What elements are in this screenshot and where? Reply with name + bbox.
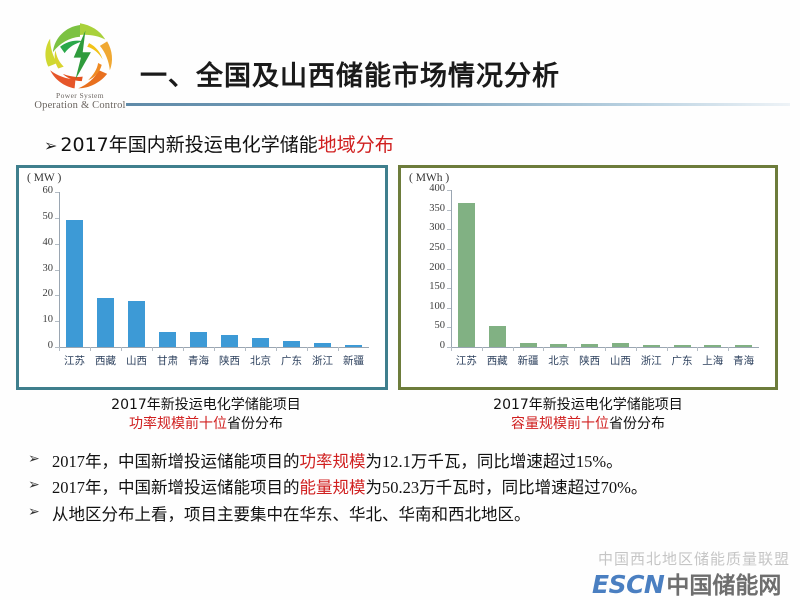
- power-swirl-icon: [34, 16, 126, 92]
- logo-line-1: Power System: [26, 92, 134, 100]
- bar: [97, 298, 114, 347]
- x-tick-label: 上海: [697, 353, 728, 368]
- bullet-text-part1: 从地区分布上看，项目主要集中在华东、华北、华南和西北地区。: [52, 505, 531, 524]
- page-title: 一、全国及山西储能市场情况分析: [140, 54, 560, 93]
- y-tick-mark: [447, 210, 451, 211]
- y-tick-label: 400: [411, 183, 445, 194]
- bullet-arrow-icon: ➢: [28, 476, 40, 496]
- bar-chart-power: 0102030405060江苏西藏山西甘肃青海陕西北京广东浙江新疆: [19, 168, 385, 387]
- brand-logo: Power System Operation & Control: [26, 16, 134, 120]
- subtitle-red-text: 地域分布: [318, 134, 394, 156]
- x-tick-label: 江苏: [59, 353, 90, 368]
- y-tick-mark: [447, 327, 451, 328]
- watermark-escn: ESCN中国储能网: [592, 566, 781, 600]
- title-underline-rule: [126, 103, 790, 106]
- chart-caption-power: 2017年新投运电化学储能项目 功率规模前十位省份分布: [26, 396, 386, 434]
- bar: [66, 220, 83, 347]
- y-tick-mark: [447, 269, 451, 270]
- slide-canvas: Power System Operation & Control 一、全国及山西…: [0, 0, 800, 600]
- x-tick-label: 北京: [245, 353, 276, 368]
- y-tick-label: 350: [411, 203, 445, 214]
- chart-panel-capacity: ( MWh ) 050100150200250300350400江苏西藏新疆北京…: [398, 165, 778, 390]
- x-tick-mark: [121, 347, 122, 351]
- bar: [735, 345, 752, 347]
- x-tick-mark: [152, 347, 153, 351]
- x-tick-label: 浙江: [307, 353, 338, 368]
- y-tick-mark: [447, 249, 451, 250]
- x-tick-label: 江苏: [451, 353, 482, 368]
- x-tick-mark: [636, 347, 637, 351]
- bar: [643, 345, 660, 347]
- x-tick-mark: [697, 347, 698, 351]
- chart-panel-power: ( MW ) 0102030405060江苏西藏山西甘肃青海陕西北京广东浙江新疆: [16, 165, 388, 390]
- y-tick-label: 60: [19, 185, 53, 196]
- bullet-text-red: 功率规模: [300, 452, 366, 471]
- x-tick-label: 新疆: [513, 353, 544, 368]
- y-tick-label: 0: [19, 340, 53, 351]
- x-tick-mark: [245, 347, 246, 351]
- bar: [345, 345, 362, 347]
- y-tick-label: 150: [411, 281, 445, 292]
- caption-right-line2: 容量规模前十位省份分布: [400, 415, 776, 434]
- y-tick-label: 200: [411, 262, 445, 273]
- x-tick-label: 陕西: [214, 353, 245, 368]
- y-tick-label: 300: [411, 222, 445, 233]
- caption-right-red: 容量规模前十位: [511, 416, 609, 432]
- watermark-escn-chinese: 中国储能网: [666, 573, 781, 599]
- y-tick-mark: [55, 244, 59, 245]
- bar-chart-capacity: 050100150200250300350400江苏西藏新疆北京陕西山西浙江广东…: [401, 168, 775, 387]
- logo-line-2: Operation & Control: [26, 100, 134, 111]
- caption-right-black: 省份分布: [609, 416, 665, 432]
- bullet-text-part1: 2017年，中国新增投运储能项目的: [52, 452, 300, 471]
- x-tick-mark: [214, 347, 215, 351]
- x-tick-label: 陕西: [574, 353, 605, 368]
- bar: [550, 344, 567, 347]
- x-tick-label: 浙江: [636, 353, 667, 368]
- y-tick-mark: [55, 270, 59, 271]
- x-tick-mark: [605, 347, 606, 351]
- bar: [704, 345, 721, 347]
- x-tick-mark: [338, 347, 339, 351]
- x-tick-mark: [307, 347, 308, 351]
- bar: [674, 345, 691, 347]
- y-tick-label: 50: [19, 211, 53, 222]
- logo-text: Power System Operation & Control: [26, 92, 134, 111]
- y-tick-mark: [55, 295, 59, 296]
- bullet-text-part2: 为50.23万千瓦时，同比增速超过70%。: [366, 478, 648, 497]
- bar: [581, 344, 598, 347]
- x-tick-mark: [482, 347, 483, 351]
- y-tick-label: 100: [411, 301, 445, 312]
- bullet-arrow-icon: ➢: [28, 450, 40, 470]
- y-tick-mark: [55, 321, 59, 322]
- y-tick-label: 40: [19, 237, 53, 248]
- bar: [458, 203, 475, 347]
- x-tick-mark: [451, 347, 452, 351]
- bar: [190, 332, 207, 347]
- bullet-list: ➢2017年，中国新增投运储能项目的功率规模为12.1万千瓦，同比增速超过15%…: [26, 450, 778, 529]
- x-tick-mark: [513, 347, 514, 351]
- x-tick-mark: [543, 347, 544, 351]
- subtitle-black-text: 2017年国内新投运电化学储能: [60, 134, 317, 156]
- bar: [128, 301, 145, 348]
- caption-left-red: 功率规模前十位: [129, 416, 227, 432]
- y-tick-label: 20: [19, 288, 53, 299]
- y-tick-mark: [447, 288, 451, 289]
- caption-left-black: 省份分布: [227, 416, 283, 432]
- list-item: ➢从地区分布上看，项目主要集中在华东、华北、华南和西北地区。: [26, 503, 778, 526]
- y-tick-label: 10: [19, 314, 53, 325]
- x-tick-mark: [728, 347, 729, 351]
- bullet-arrow-icon: ➢: [44, 136, 57, 155]
- y-tick-label: 50: [411, 320, 445, 331]
- x-tick-label: 西藏: [482, 353, 513, 368]
- x-tick-label: 山西: [605, 353, 636, 368]
- bar: [612, 343, 629, 347]
- x-tick-mark: [59, 347, 60, 351]
- x-tick-label: 北京: [543, 353, 574, 368]
- bullet-arrow-icon: ➢: [28, 503, 40, 523]
- x-tick-mark: [276, 347, 277, 351]
- bullet-text-part2: 为12.1万千瓦，同比增速超过15%。: [366, 452, 623, 471]
- bar: [283, 341, 300, 347]
- caption-left-line2: 功率规模前十位省份分布: [26, 415, 386, 434]
- bar: [159, 332, 176, 348]
- y-tick-label: 0: [411, 340, 445, 351]
- y-tick-label: 30: [19, 263, 53, 274]
- chart-caption-capacity: 2017年新投运电化学储能项目 容量规模前十位省份分布: [400, 396, 776, 434]
- bar: [221, 335, 238, 347]
- section-subtitle: ➢2017年国内新投运电化学储能地域分布: [44, 130, 394, 157]
- y-tick-mark: [55, 192, 59, 193]
- y-axis-line: [451, 190, 452, 347]
- x-tick-label: 新疆: [338, 353, 369, 368]
- bar: [314, 343, 331, 347]
- x-tick-label: 西藏: [90, 353, 121, 368]
- x-tick-label: 甘肃: [152, 353, 183, 368]
- y-tick-mark: [447, 190, 451, 191]
- x-tick-label: 广东: [667, 353, 698, 368]
- y-tick-mark: [55, 218, 59, 219]
- list-item: ➢2017年，中国新增投运储能项目的功率规模为12.1万千瓦，同比增速超过15%…: [26, 450, 778, 473]
- x-tick-label: 山西: [121, 353, 152, 368]
- y-tick-mark: [447, 229, 451, 230]
- list-item: ➢2017年，中国新增投运储能项目的能量规模为50.23万千瓦时，同比增速超过7…: [26, 476, 778, 499]
- watermark-escn-latin: ESCN: [592, 570, 664, 599]
- y-axis-line: [59, 192, 60, 347]
- bullet-text-red: 能量规模: [300, 478, 366, 497]
- caption-left-line1: 2017年新投运电化学储能项目: [26, 396, 386, 415]
- x-tick-label: 广东: [276, 353, 307, 368]
- y-tick-mark: [447, 308, 451, 309]
- caption-right-line1: 2017年新投运电化学储能项目: [400, 396, 776, 415]
- bar: [252, 338, 269, 347]
- x-tick-label: 青海: [183, 353, 214, 368]
- x-tick-mark: [574, 347, 575, 351]
- x-tick-mark: [183, 347, 184, 351]
- bar: [520, 343, 537, 347]
- x-tick-mark: [667, 347, 668, 351]
- x-tick-label: 青海: [728, 353, 759, 368]
- bullet-text-part1: 2017年，中国新增投运储能项目的: [52, 478, 300, 497]
- x-tick-mark: [90, 347, 91, 351]
- bar: [489, 326, 506, 347]
- y-tick-label: 250: [411, 242, 445, 253]
